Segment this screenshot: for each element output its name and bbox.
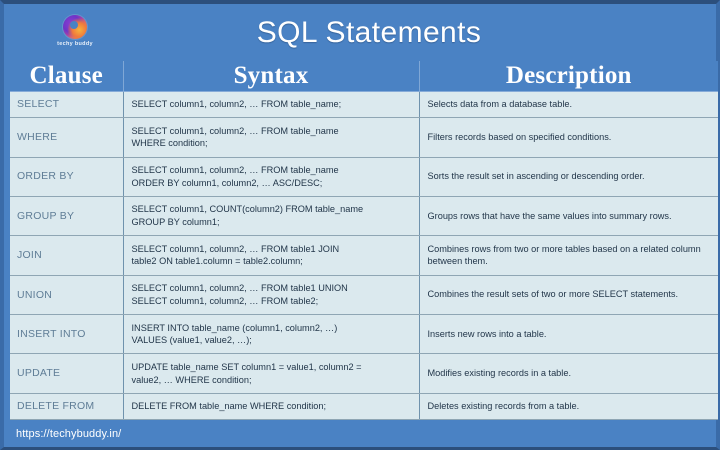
table-head: Clause Syntax Description (10, 61, 718, 92)
table-body: SELECTSELECT column1, column2, … FROM ta… (10, 92, 718, 420)
cell-syntax: UPDATE table_name SET column1 = value1, … (123, 354, 419, 393)
syntax-line: INSERT INTO table_name (column1, column2… (132, 322, 413, 335)
brand-logo: techy buddy (46, 8, 104, 54)
column-header-clause: Clause (10, 61, 123, 92)
cell-syntax: SELECT column1, column2, … FROM table1 J… (123, 236, 419, 275)
cell-description: Filters records based on specified condi… (419, 118, 718, 157)
cell-description: Groups rows that have the same values in… (419, 196, 718, 235)
cell-clause: ORDER BY (10, 157, 123, 196)
table-row: ORDER BYSELECT column1, column2, … FROM … (10, 157, 718, 196)
cell-description: Sorts the result set in ascending or des… (419, 157, 718, 196)
cell-syntax: SELECT column1, column2, … FROM table_na… (123, 92, 419, 118)
cell-clause: GROUP BY (10, 196, 123, 235)
syntax-line: SELECT column1, COUNT(column2) FROM tabl… (132, 203, 413, 216)
syntax-line: SELECT column1, column2, … FROM table1 U… (132, 282, 413, 295)
table-row: GROUP BYSELECT column1, COUNT(column2) F… (10, 196, 718, 235)
slide: techy buddy SQL Statements Clause Syntax… (0, 0, 720, 450)
table-container: Clause Syntax Description SELECTSELECT c… (4, 61, 716, 420)
column-header-description: Description (419, 61, 718, 92)
brand-logo-text: techy buddy (57, 41, 93, 47)
table-row: UPDATEUPDATE table_name SET column1 = va… (10, 354, 718, 393)
syntax-line: table2 ON table1.column = table2.column; (132, 255, 413, 268)
cell-syntax: DELETE FROM table_name WHERE condition; (123, 393, 419, 419)
cell-description: Selects data from a database table. (419, 92, 718, 118)
table-row: WHERESELECT column1, column2, … FROM tab… (10, 118, 718, 157)
cell-syntax: SELECT column1, column2, … FROM table1 U… (123, 275, 419, 314)
column-header-syntax: Syntax (123, 61, 419, 92)
table-row: DELETE FROMDELETE FROM table_name WHERE … (10, 393, 718, 419)
cell-syntax: SELECT column1, COUNT(column2) FROM tabl… (123, 196, 419, 235)
table-row: SELECTSELECT column1, column2, … FROM ta… (10, 92, 718, 118)
cell-syntax: SELECT column1, column2, … FROM table_na… (123, 157, 419, 196)
cell-clause: UPDATE (10, 354, 123, 393)
cell-description: Modifies existing records in a table. (419, 354, 718, 393)
sql-statements-table: Clause Syntax Description SELECTSELECT c… (10, 61, 718, 420)
syntax-line: SELECT column1, column2, … FROM table1 J… (132, 243, 413, 256)
cell-clause: UNION (10, 275, 123, 314)
slide-footer: https://techybuddy.in/ (4, 420, 716, 447)
syntax-line: WHERE condition; (132, 137, 413, 150)
techybuddy-circle-logo-icon (63, 15, 87, 39)
cell-clause: JOIN (10, 236, 123, 275)
syntax-line: DELETE FROM table_name WHERE condition; (132, 400, 413, 413)
cell-description: Deletes existing records from a table. (419, 393, 718, 419)
cell-clause: SELECT (10, 92, 123, 118)
cell-description: Combines the result sets of two or more … (419, 275, 718, 314)
slide-header: techy buddy SQL Statements (4, 4, 716, 61)
table-row: UNIONSELECT column1, column2, … FROM tab… (10, 275, 718, 314)
syntax-line: GROUP BY column1; (132, 216, 413, 229)
cell-clause: WHERE (10, 118, 123, 157)
table-header-row: Clause Syntax Description (10, 61, 718, 92)
cell-syntax: SELECT column1, column2, … FROM table_na… (123, 118, 419, 157)
syntax-line: SELECT column1, column2, … FROM table_na… (132, 98, 413, 111)
syntax-line: value2, … WHERE condition; (132, 374, 413, 387)
table-row: JOINSELECT column1, column2, … FROM tabl… (10, 236, 718, 275)
syntax-line: SELECT column1, column2, … FROM table_na… (132, 164, 413, 177)
cell-description: Combines rows from two or more tables ba… (419, 236, 718, 275)
syntax-line: SELECT column1, column2, … FROM table2; (132, 295, 413, 308)
syntax-line: UPDATE table_name SET column1 = value1, … (132, 361, 413, 374)
syntax-line: ORDER BY column1, column2, … ASC/DESC; (132, 177, 413, 190)
syntax-line: VALUES (value1, value2, …); (132, 334, 413, 347)
table-row: INSERT INTOINSERT INTO table_name (colum… (10, 315, 718, 354)
cell-description: Inserts new rows into a table. (419, 315, 718, 354)
cell-syntax: INSERT INTO table_name (column1, column2… (123, 315, 419, 354)
page-title: SQL Statements (4, 16, 716, 50)
syntax-line: SELECT column1, column2, … FROM table_na… (132, 125, 413, 138)
website-url: https://techybuddy.in/ (16, 428, 121, 440)
cell-clause: DELETE FROM (10, 393, 123, 419)
cell-clause: INSERT INTO (10, 315, 123, 354)
